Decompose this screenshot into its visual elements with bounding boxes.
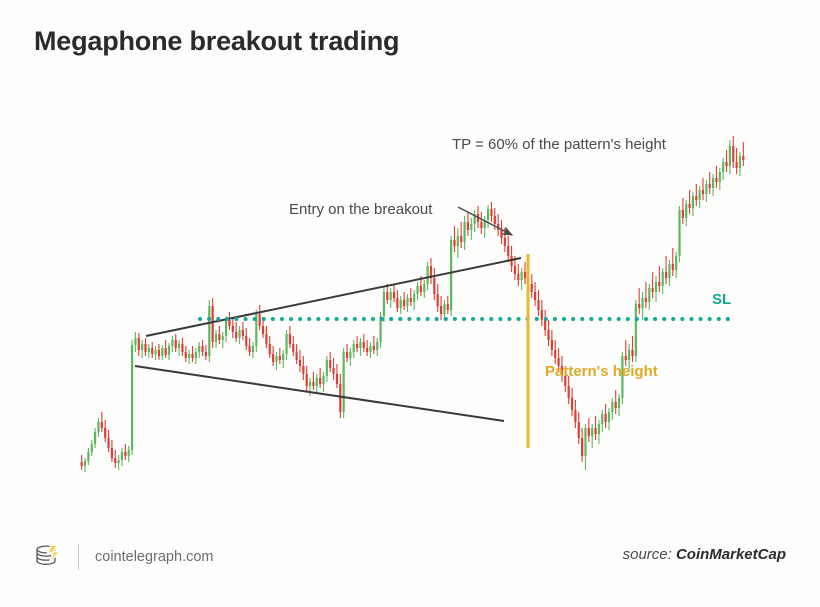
candle-body [739,156,741,168]
pattern-height-label: Pattern's height [545,363,658,380]
candle-body [175,340,177,348]
candle-body [339,384,341,412]
candle-body [514,266,516,274]
lower-trendline [135,366,504,421]
candle-body [191,354,193,358]
candle-body [450,240,452,310]
candle-body [588,428,590,436]
candle-body [124,452,126,456]
footer-site-label: cointelegraph.com [95,549,214,565]
candle-body [628,350,630,360]
overlays-layer [135,207,733,448]
candle-body [433,278,435,294]
candle-body [413,294,415,302]
candle-body [302,366,304,374]
source-prefix: source: [623,546,676,563]
candle-body [605,414,607,422]
candle-body [675,256,677,270]
candle-body [705,184,707,194]
candle-body [296,352,298,360]
candle-body [652,288,654,292]
candle-body [396,298,398,308]
candle-body [695,196,697,200]
candle-body [188,354,190,358]
candle-body [299,360,301,366]
candle-body [742,156,744,160]
candle-body [242,330,244,336]
candle-body [672,264,674,270]
candle-body [265,334,267,344]
candle-body [423,284,425,292]
candle-body [688,204,690,208]
upper-trendline [146,258,521,336]
candle-body [393,292,395,298]
candle-body [736,162,738,168]
candle-body [467,222,469,230]
candle-body [97,422,99,432]
candle-body [336,374,338,384]
candle-body [279,356,281,360]
candle-body [581,438,583,456]
candle-body [658,282,660,286]
candle-body [390,292,392,300]
candle-body [346,352,348,358]
candle-body [252,346,254,352]
footer-divider [78,544,79,570]
candle-body [101,422,103,428]
candle-body [584,428,586,456]
candle-body [729,146,731,166]
candle-body [201,346,203,352]
candle-body [470,224,472,230]
candle-body [165,348,167,355]
candle-body [719,172,721,182]
candle-body [554,350,556,358]
candle-body [232,326,234,332]
candle-body [551,340,553,350]
candle-body [369,346,371,352]
candle-body [131,345,133,450]
candle-body [601,414,603,424]
candle-body [383,292,385,316]
candles-layer [81,136,745,472]
candle-body [386,292,388,300]
candle-body [574,410,576,422]
candle-body [460,236,462,242]
candle-body [376,342,378,350]
candle-body [144,344,146,352]
candle-body [195,352,197,358]
candle-body [568,386,570,398]
candle-body [269,344,271,354]
candle-body [406,298,408,306]
candle-body [591,428,593,436]
candle-body [84,461,86,466]
candle-body [107,438,109,448]
candle-body [447,304,449,310]
source-attribution: source: CoinMarketCap [623,546,786,563]
candle-body [363,342,365,348]
candle-body [121,452,123,460]
candle-body [111,448,113,458]
candle-body [453,240,455,246]
candle-body [353,344,355,352]
candle-body [416,286,418,294]
candle-body [319,378,321,384]
candle-body [598,424,600,434]
candle-body [225,320,227,336]
candle-body [306,374,308,386]
candle-body [541,310,543,320]
candle-body [141,344,143,350]
candle-body [725,162,727,166]
candle-body [228,320,230,326]
candle-body [171,340,173,346]
candle-body [332,368,334,374]
candle-body [238,330,240,338]
candlestick-chart [0,0,820,607]
candle-body [329,360,331,368]
candle-body [625,356,627,360]
source-name: CoinMarketCap [676,546,786,563]
candle-body [463,222,465,242]
cointelegraph-logo-icon [34,541,64,574]
candle-body [732,146,734,162]
candle-body [645,298,647,302]
infographic-page: Megaphone breakout trading TP = 60% of t… [0,0,820,607]
candle-body [668,264,670,278]
candle-body [218,334,220,340]
candle-body [615,402,617,408]
candle-body [309,382,311,386]
candle-body [81,462,83,466]
candle-body [504,238,506,246]
candle-body [322,376,324,384]
candle-body [181,344,183,352]
candle-body [699,190,701,200]
candle-body [618,398,620,408]
candle-body [138,338,140,350]
candle-body [94,432,96,444]
candle-body [128,450,130,456]
candle-body [356,344,358,348]
candle-body [400,300,402,308]
candle-body [682,210,684,218]
candle-body [178,344,180,348]
candle-body [611,402,613,412]
candle-body [715,178,717,182]
candle-body [87,452,89,461]
candle-body [437,294,439,306]
candle-body [272,354,274,362]
candle-body [91,444,93,452]
candle-body [114,458,116,463]
candle-body [316,378,318,386]
candle-body [222,336,224,340]
candle-body [212,306,214,342]
candle-body [507,246,509,256]
candle-body [594,428,596,434]
candle-body [692,196,694,208]
candle-body [282,354,284,360]
candle-body [494,216,496,224]
candle-body [410,298,412,302]
candle-body [259,314,261,326]
candle-body [521,272,523,280]
candle-body [655,282,657,292]
candle-body [349,352,351,358]
candle-body [608,412,610,422]
stop-loss-label: SL [712,291,731,308]
candle-body [154,350,156,354]
take-profit-annotation: TP = 60% of the pattern's height [452,136,666,153]
candle-body [487,209,489,220]
candle-body [631,350,633,356]
candle-body [517,274,519,280]
candle-body [151,348,153,354]
candle-body [289,334,291,344]
candle-body [366,348,368,352]
entry-annotation: Entry on the breakout [289,201,432,218]
candle-body [480,222,482,228]
candle-body [534,292,536,300]
candle-body [427,266,429,284]
candle-body [168,346,170,355]
candle-body [635,304,637,356]
candle-body [235,332,237,338]
candle-body [245,336,247,346]
candle-body [537,300,539,310]
candle-body [215,334,217,342]
candle-body [205,352,207,356]
candle-body [359,342,361,348]
candle-body [665,272,667,278]
candle-body [678,210,680,256]
candle-body [198,346,200,352]
candle-body [249,346,251,352]
candle-body [161,348,163,356]
candle-body [440,306,442,314]
candle-body [403,300,405,306]
candle-body [547,330,549,340]
candle-body [148,348,150,352]
candle-body [641,298,643,308]
candle-body [578,422,580,438]
candle-body [712,178,714,188]
candle-body [292,344,294,352]
candle-body [457,236,459,246]
candle-body [343,352,345,412]
candle-body [118,460,120,463]
candle-body [185,352,187,358]
candle-body [275,356,277,362]
candle-body [638,304,640,308]
candle-body [373,346,375,350]
candle-body [158,350,160,356]
candle-body [709,184,711,188]
candle-body [420,286,422,292]
candle-body [443,304,445,314]
candle-body [531,284,533,292]
footer: cointelegraph.com [34,542,214,572]
candle-body [285,334,287,354]
candle-body [685,204,687,218]
candle-body [524,272,526,278]
candle-body [702,190,704,194]
candle-body [662,272,664,286]
candle-body [134,338,136,345]
candle-body [648,288,650,302]
candle-body [500,230,502,238]
candle-body [312,382,314,386]
candle-body [262,326,264,334]
candle-body [490,209,492,216]
candle-body [722,162,724,172]
candle-body [571,398,573,410]
candle-body [326,360,328,376]
candle-body [208,306,210,356]
candle-body [104,428,106,438]
candle-body [544,320,546,330]
